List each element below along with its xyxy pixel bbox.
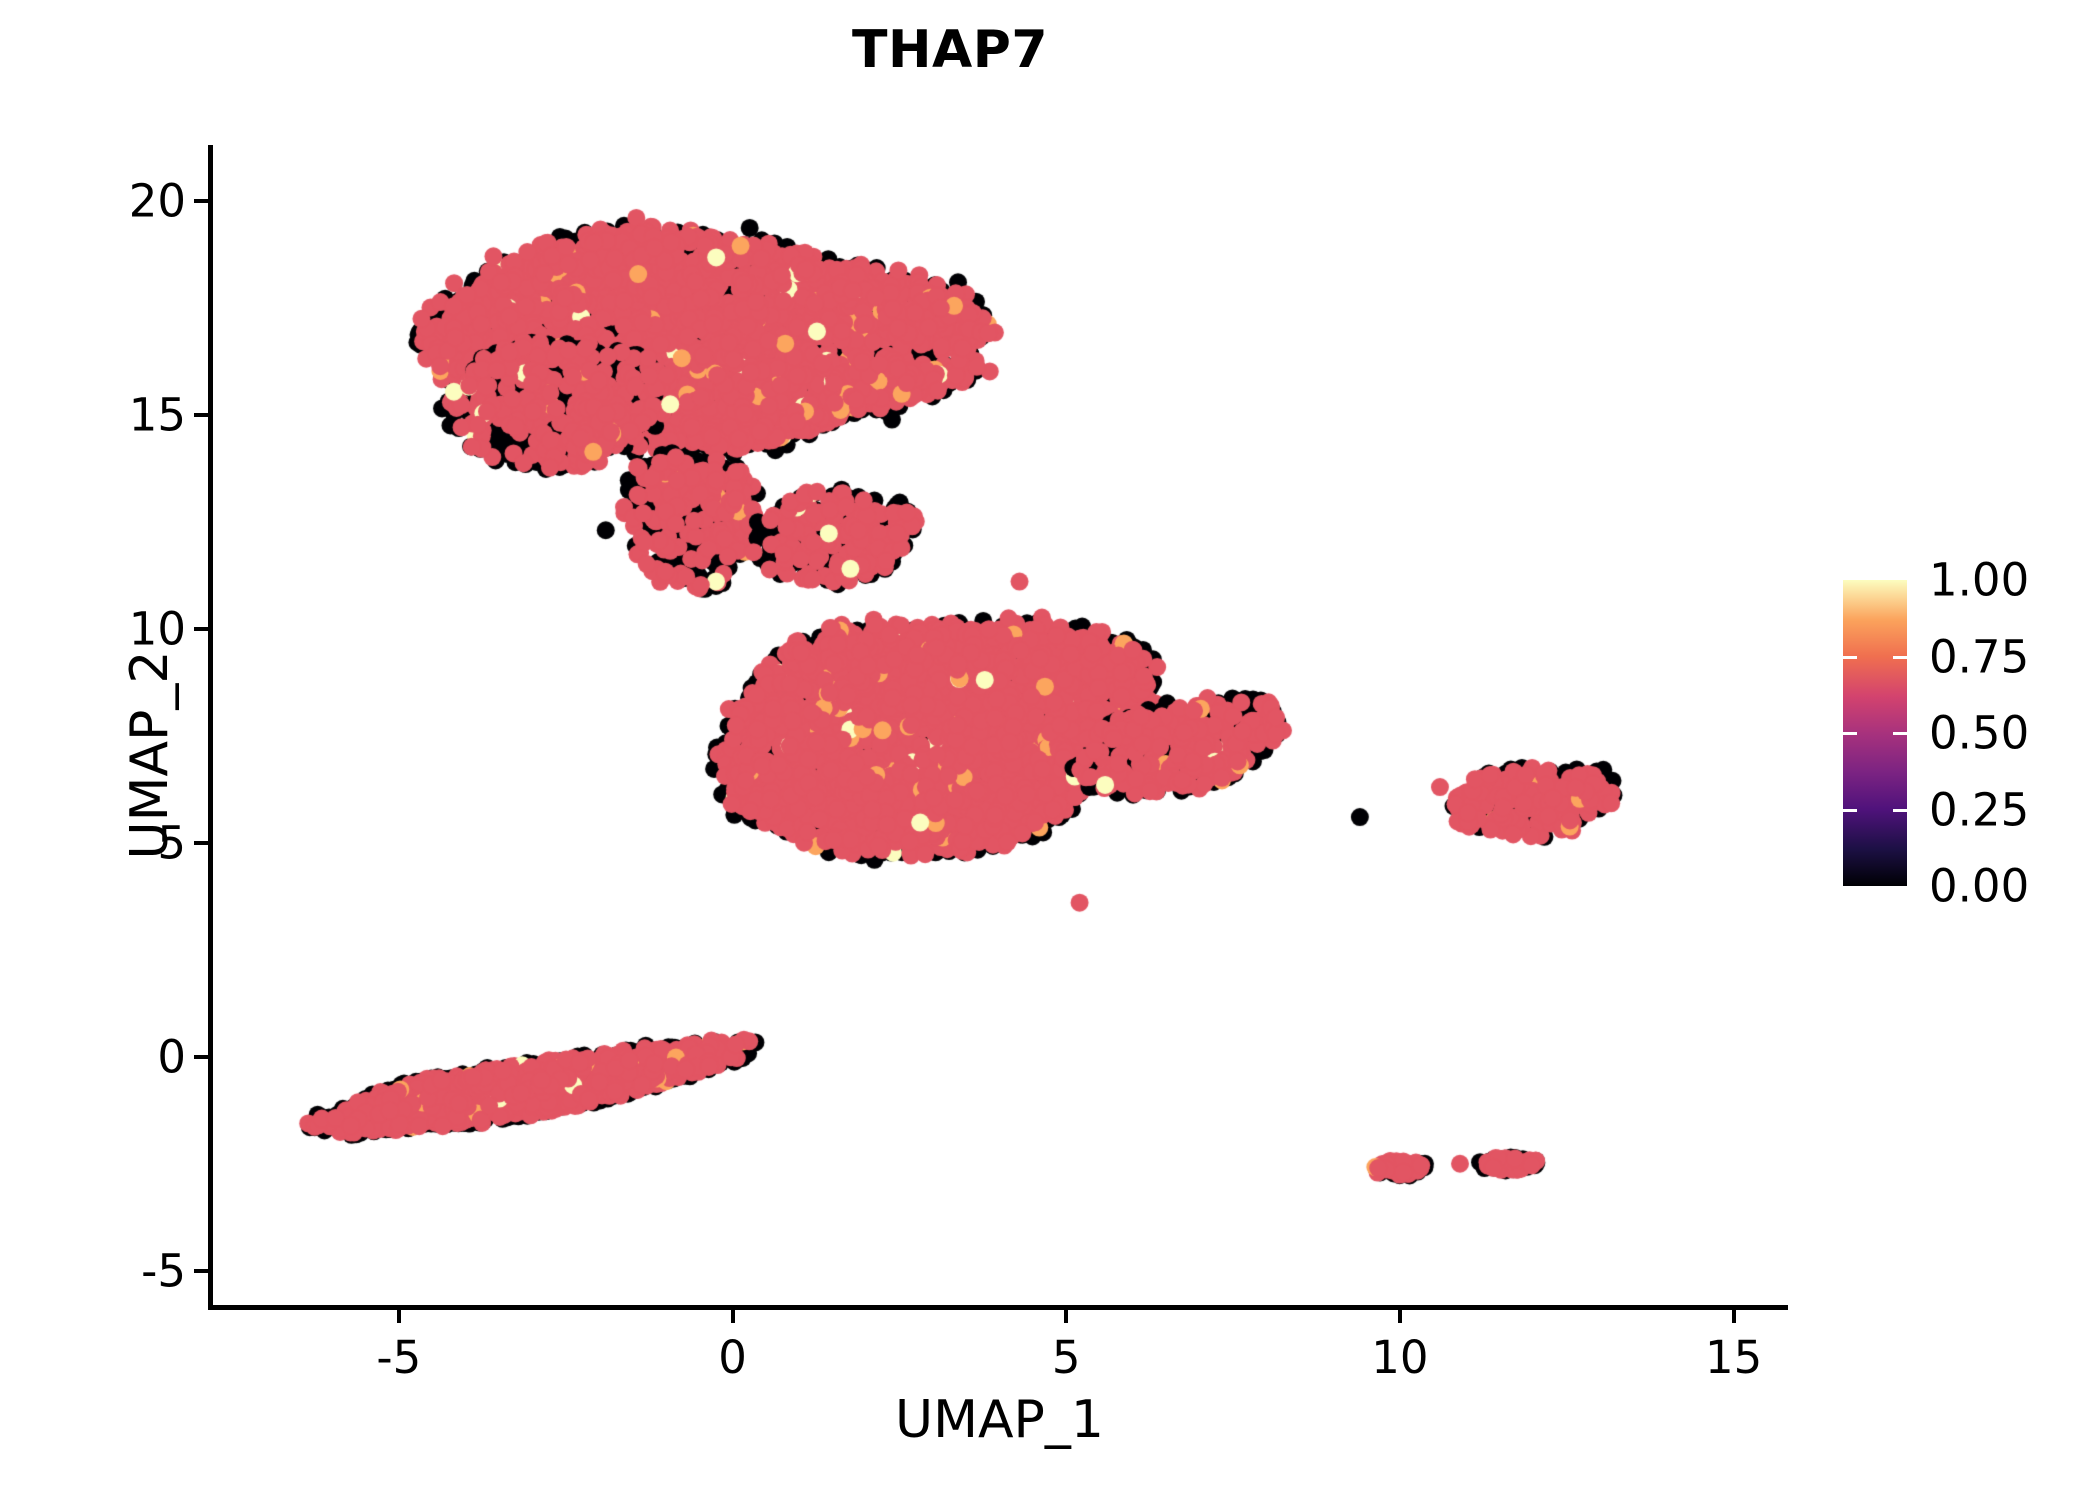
y-axis-spine	[208, 145, 213, 1306]
colorbar-tick-label: 1.00	[1929, 554, 2029, 607]
y-tick-mark	[194, 841, 208, 845]
x-tick-label: 10	[1371, 1331, 1428, 1384]
y-tick-mark	[194, 413, 208, 417]
x-axis-label: UMAP_1	[212, 1390, 1787, 1450]
x-tick-mark	[731, 1309, 735, 1323]
y-tick-label: 20	[129, 174, 186, 227]
scatter-plot-canvas	[212, 145, 1787, 1305]
colorbar-tick-mark	[1893, 809, 1907, 812]
x-tick-label: 5	[1052, 1331, 1081, 1384]
x-tick-label: 15	[1705, 1331, 1762, 1384]
plot-axes: -505101520 -5051015	[212, 145, 1787, 1305]
colorbar-tick-label: 0.50	[1929, 707, 2029, 760]
colorbar-tick-mark	[1843, 809, 1857, 812]
colorbar-tick-mark	[1893, 732, 1907, 735]
y-tick-label: 15	[129, 388, 186, 441]
x-tick-mark	[1398, 1309, 1402, 1323]
y-tick-mark	[194, 1055, 208, 1059]
y-tick-mark	[194, 1269, 208, 1273]
y-axis-label: UMAP_2	[120, 605, 180, 905]
x-axis-spine	[208, 1305, 1788, 1310]
y-tick-label: -5	[141, 1244, 186, 1297]
x-tick-mark	[397, 1309, 401, 1323]
x-tick-mark	[1064, 1309, 1068, 1323]
y-tick-label: 0	[157, 1030, 186, 1083]
colorbar-tick-mark	[1843, 732, 1857, 735]
colorbar-tick-label: 0.75	[1929, 630, 2029, 683]
colorbar-legend: 0.000.250.500.751.00	[1843, 580, 2083, 890]
x-tick-label: -5	[376, 1331, 421, 1384]
page-title: THAP7	[0, 20, 1900, 80]
x-tick-label: 0	[718, 1331, 747, 1384]
y-tick-mark	[194, 199, 208, 203]
colorbar-tick-mark	[1843, 656, 1857, 659]
colorbar-tick-label: 0.00	[1929, 860, 2029, 913]
colorbar-tick-mark	[1893, 656, 1907, 659]
y-tick-mark	[194, 627, 208, 631]
umap-feature-plot-figure: THAP7 -505101520 -5051015 UMAP_1 UMAP_2 …	[0, 0, 2100, 1500]
x-tick-mark	[1732, 1309, 1736, 1323]
colorbar-tick-label: 0.25	[1929, 783, 2029, 836]
